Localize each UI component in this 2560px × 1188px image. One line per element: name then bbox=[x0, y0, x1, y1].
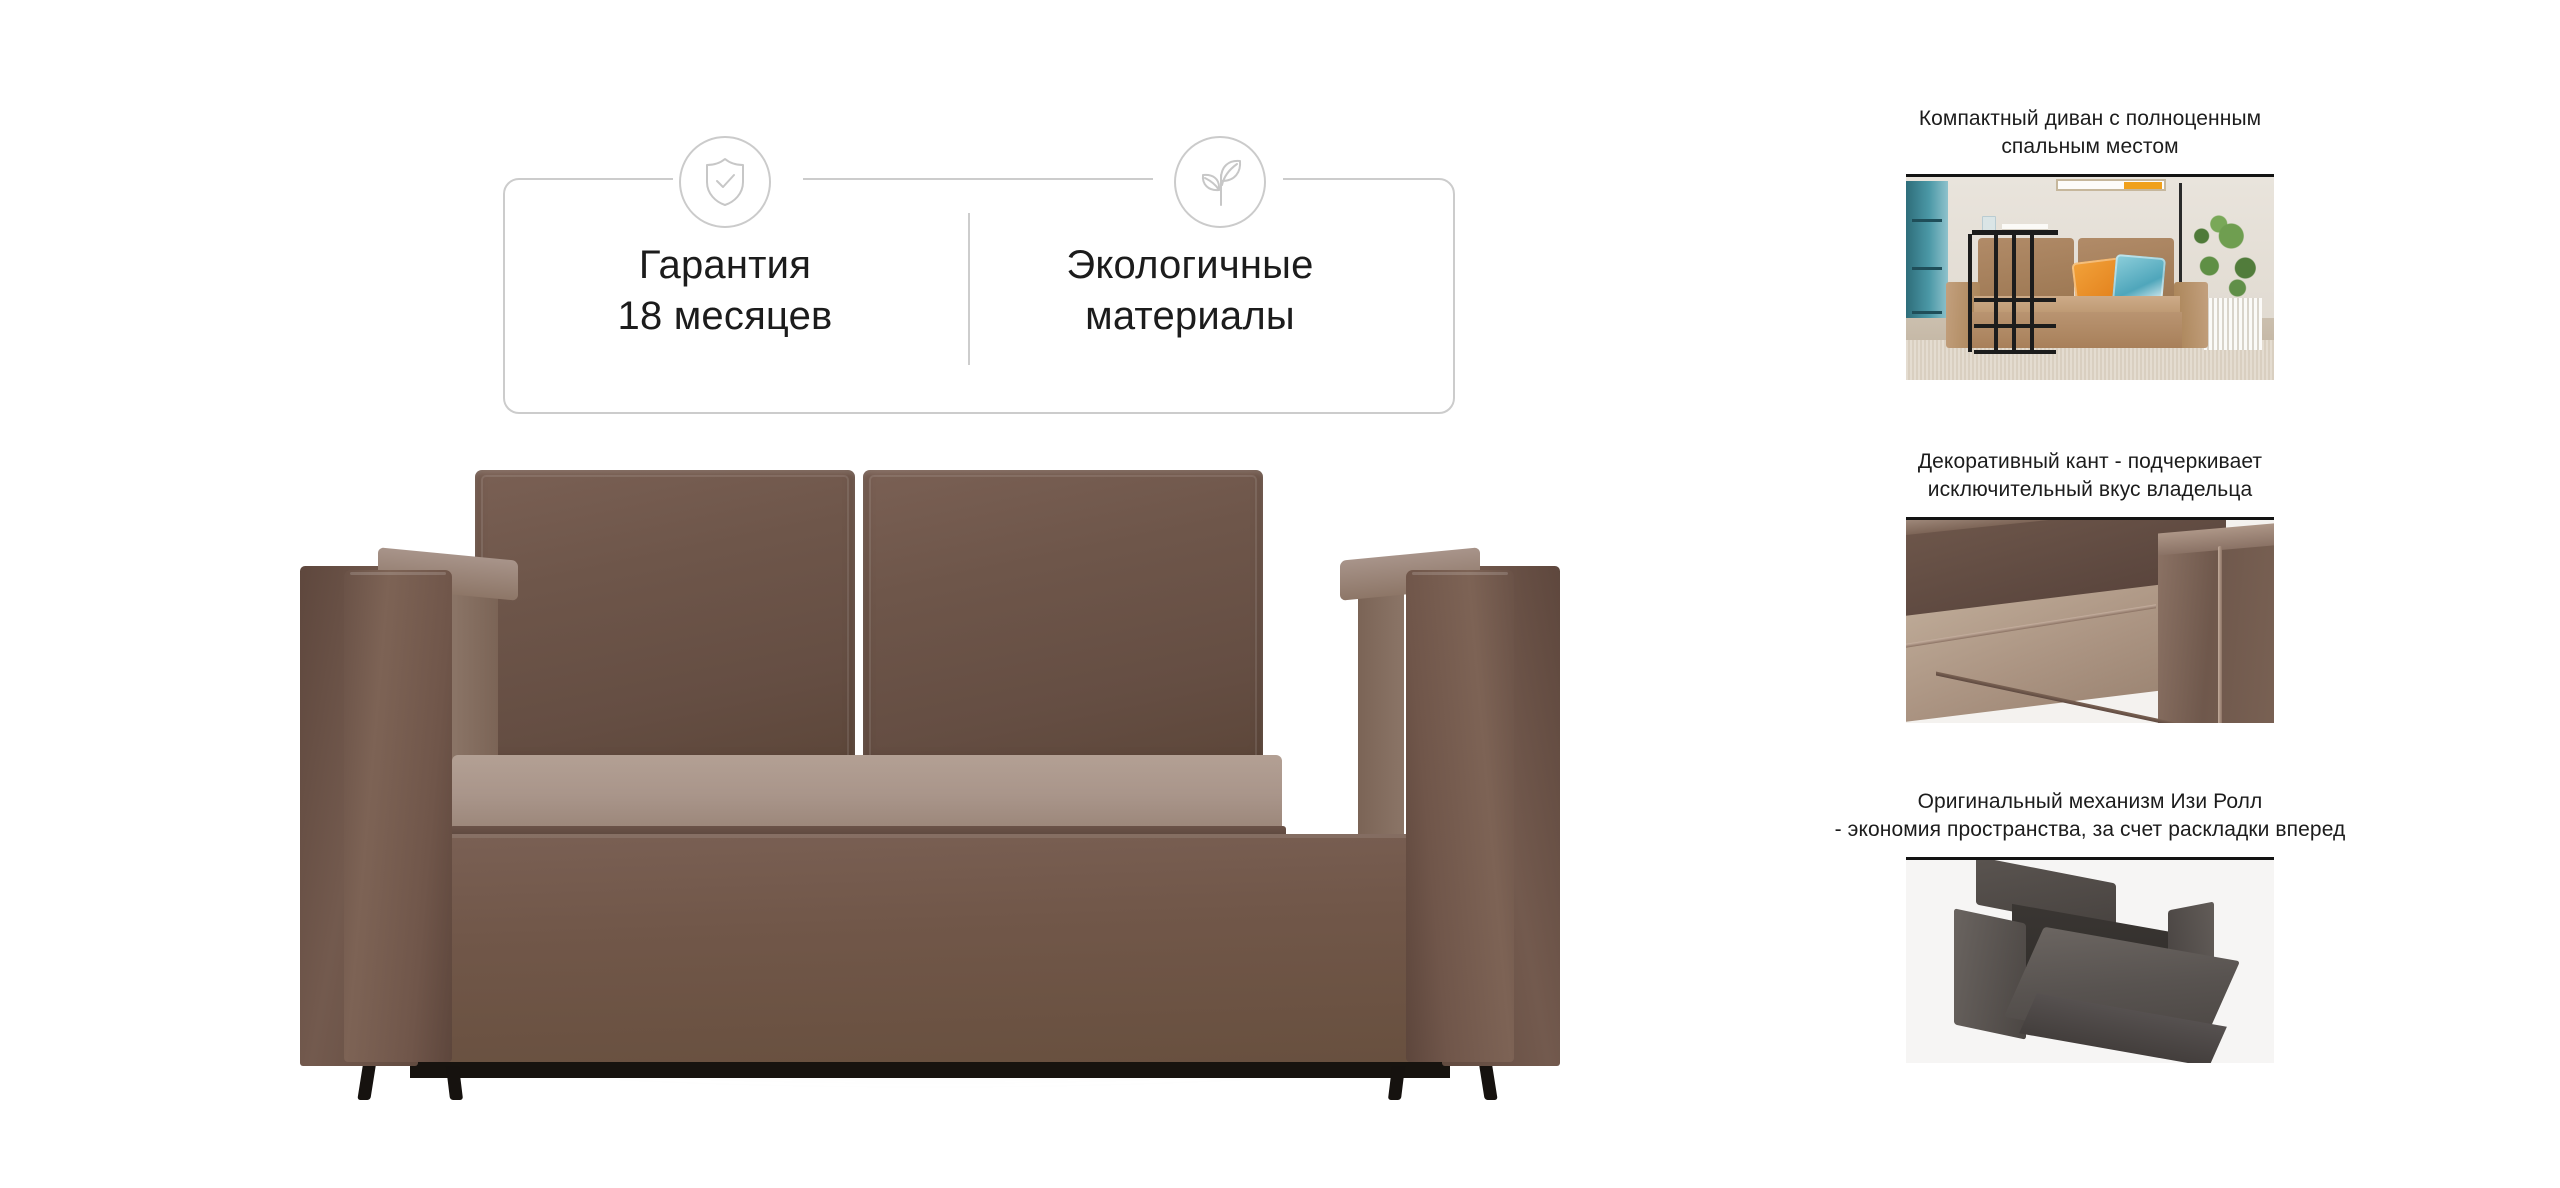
feature-caption: Компактный диван с полноценным спальным … bbox=[1740, 105, 2440, 161]
sofa-armrest-right bbox=[1406, 570, 1514, 1062]
photo-content bbox=[1906, 520, 2274, 723]
cushion-piping bbox=[869, 475, 1257, 762]
wall-art bbox=[2056, 179, 2166, 191]
sofa-armrest bbox=[2158, 536, 2274, 723]
armrest-piping-detail-photo[interactable] bbox=[1906, 517, 2274, 723]
feature-caption-line2: спальным местом bbox=[1740, 133, 2440, 161]
sofa-seat-cushion bbox=[452, 755, 1282, 833]
badge-guarantee-line1: Гарантия bbox=[510, 240, 940, 291]
sofa-foot bbox=[1479, 1066, 1497, 1100]
table-rail bbox=[1974, 350, 2056, 354]
table-leg bbox=[2030, 234, 2034, 352]
feature-caption-line2: исключительный вкус владельца bbox=[1740, 476, 2440, 504]
eco-leaf-icon bbox=[1174, 136, 1266, 228]
bookshelf bbox=[1906, 181, 1948, 331]
feature-caption: Оригинальный механизм Изи Ролл - экономи… bbox=[1740, 788, 2440, 844]
hero-sofa-image bbox=[300, 470, 1560, 1100]
feature-caption-line1: Компактный диван с полноценным bbox=[1740, 105, 2440, 133]
unfolded-mechanism-photo[interactable] bbox=[1906, 857, 2274, 1063]
feature-caption: Декоративный кант - подчеркивает исключи… bbox=[1740, 448, 2440, 504]
sofa-arm-left bbox=[1954, 908, 2026, 1039]
table-leg bbox=[1994, 234, 1998, 352]
badge-eco-label: Экологичные материалы bbox=[975, 240, 1405, 342]
badge-guarantee-line2: 18 месяцев bbox=[510, 291, 940, 342]
plant-pot bbox=[2204, 298, 2262, 350]
table-leg bbox=[1968, 234, 1972, 352]
feature-list: Компактный диван с полноценным спальным … bbox=[1740, 0, 2440, 1188]
badge-guarantee-label: Гарантия 18 месяцев bbox=[510, 240, 940, 342]
badge-divider bbox=[968, 213, 970, 365]
shield-check-icon bbox=[679, 136, 771, 228]
decorative-piping-vertical bbox=[2218, 546, 2222, 723]
feature-item: Декоративный кант - подчеркивает исключи… bbox=[1740, 448, 2440, 723]
photo-content bbox=[1906, 860, 2274, 1063]
sofa-illustration bbox=[300, 470, 1560, 1100]
sofa-back-cushion-left bbox=[475, 470, 855, 768]
badge-eco-line1: Экологичные bbox=[975, 240, 1405, 291]
sofa-armrest-left bbox=[344, 570, 452, 1062]
feature-item: Компактный диван с полноценным спальным … bbox=[1740, 105, 2440, 380]
sofa-foot bbox=[1388, 1066, 1405, 1100]
table-leg bbox=[2012, 234, 2016, 352]
cushion-piping bbox=[481, 475, 849, 762]
sofa-foot bbox=[357, 1066, 375, 1100]
feature-caption-line1: Декоративный кант - подчеркивает bbox=[1740, 448, 2440, 476]
table-rail bbox=[1974, 324, 2056, 328]
photo-content bbox=[1906, 177, 2274, 380]
feature-caption-line2: - экономия пространства, за счет расклад… bbox=[1740, 816, 2440, 844]
product-feature-banner: Гарантия 18 месяцев Экологичные материал… bbox=[0, 0, 2560, 1188]
sofa-front-base bbox=[440, 834, 1420, 1062]
feature-caption-line1: Оригинальный механизм Изи Ролл bbox=[1740, 788, 2440, 816]
living-room-sofa-photo[interactable] bbox=[1906, 174, 2274, 380]
side-table bbox=[1968, 230, 2058, 354]
feature-item: Оригинальный механизм Изи Ролл - экономи… bbox=[1740, 788, 2440, 1063]
badge-eco-line2: материалы bbox=[975, 291, 1405, 342]
table-rail bbox=[1974, 298, 2056, 302]
sofa-back-cushion-right bbox=[863, 470, 1263, 768]
